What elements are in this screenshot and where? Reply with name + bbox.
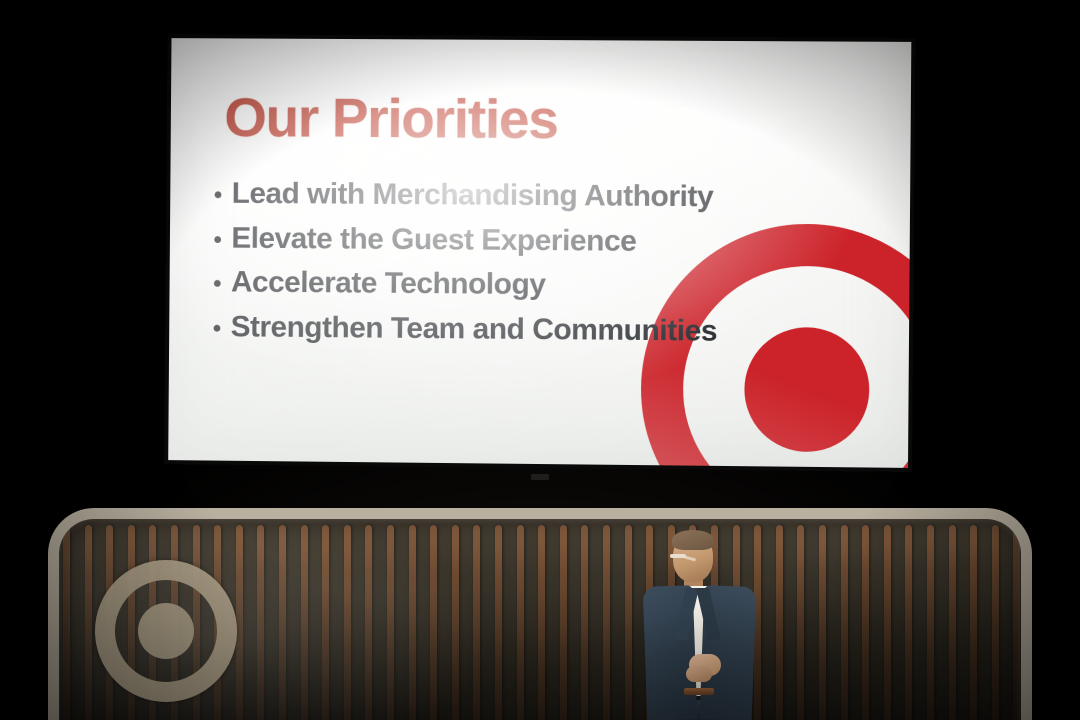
priorities-list: • Lead with Merchandising Authority • El… [213,179,911,348]
wood-slat [581,525,588,720]
wood-slat [949,525,956,720]
speaker-figure [640,532,764,720]
screen-mount-marker [531,474,549,480]
wood-slat [819,525,826,720]
bullet-marker-icon: • [214,184,232,208]
bullet-marker-icon: • [213,317,231,341]
list-item-label: Accelerate Technology [231,268,546,301]
wood-slat [473,525,480,720]
wood-slat [322,525,329,720]
presentation-slide: Our Priorities • Lead with Merchandising… [168,38,911,468]
wood-slat [625,525,632,720]
list-item-label: Lead with Merchandising Authority [232,179,714,212]
wood-slat [927,525,934,720]
wood-slat [797,525,804,720]
wood-slat [495,525,502,720]
stage-target-bullseye-icon [95,560,237,702]
speaker-hair [672,530,714,550]
slide-content: Our Priorities • Lead with Merchandising… [168,38,911,468]
list-item: • Strengthen Team and Communities [213,312,909,348]
wood-slat [257,525,264,720]
wood-slat [1013,525,1020,720]
wood-slat [430,525,437,720]
wood-slat [517,525,524,720]
wood-slat [776,525,783,720]
wood-slat [344,525,351,720]
list-item: • Elevate the Guest Experience [213,223,909,258]
list-item: • Accelerate Technology [213,267,909,303]
projection-screen: Our Priorities • Lead with Merchandising… [168,38,911,468]
wood-slat [905,525,912,720]
wood-slat [841,525,848,720]
speaker-belt [684,688,714,695]
wood-slat [409,525,416,720]
bullet-marker-icon: • [213,272,231,296]
wood-slat [862,525,869,720]
wood-slat [63,525,70,720]
list-item: • Lead with Merchandising Authority [214,179,910,214]
speaker-hand-lower [686,666,712,682]
wood-slat [365,525,372,720]
wood-slat [452,525,459,720]
keynote-stage-photo: Our Priorities • Lead with Merchandising… [0,0,1080,720]
wood-slat [992,525,999,720]
wood-slat [279,525,286,720]
wood-slat [301,525,308,720]
slide-title: Our Priorities [224,90,911,149]
wood-slat [560,525,567,720]
list-item-label: Elevate the Guest Experience [231,223,636,256]
stage-bullseye-center-dot [138,603,194,659]
wood-slat [85,525,92,720]
wood-slat [603,525,610,720]
wood-slat [387,525,394,720]
bullet-marker-icon: • [213,228,231,252]
list-item-label: Strengthen Team and Communities [231,312,718,346]
wood-slat [884,525,891,720]
wood-slat [538,525,545,720]
wood-slat [970,525,977,720]
